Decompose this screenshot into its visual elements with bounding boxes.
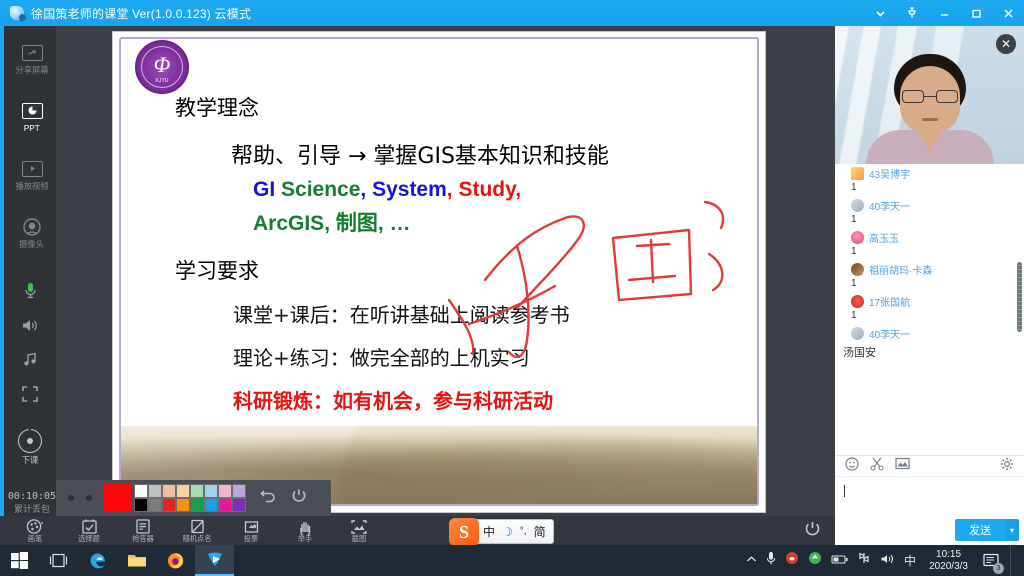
notification-count: 3 [993, 563, 1004, 574]
ime-mode[interactable]: 中 [483, 523, 495, 540]
send-button[interactable]: 发送 [955, 519, 1005, 541]
network-tray-icon[interactable] [857, 552, 871, 570]
ime-punctuation[interactable]: °, [520, 526, 527, 537]
university-logo-tag: XJTU [155, 78, 169, 84]
palette-swatch-top-7[interactable] [232, 484, 246, 498]
minimize-icon[interactable] [928, 0, 960, 26]
chat-message-header: 祖丽胡玛·卡森 [843, 262, 1016, 277]
slide-heading-2: 学习要求 [175, 255, 747, 285]
palette-actions [260, 488, 307, 509]
update-tray-icon[interactable] [808, 551, 822, 570]
pin-icon[interactable] [896, 0, 928, 26]
camera-icon [21, 218, 43, 236]
tool-roll-call-label: 随机点名 [183, 535, 212, 542]
window-title: 徐国策老师的课堂 Ver(1.0.0.123) 云模式 [31, 5, 251, 22]
ime-toolbar[interactable]: S 中 ☽ °, 简 [452, 519, 554, 544]
classroom-app-icon[interactable] [195, 545, 234, 576]
avatar [851, 295, 864, 308]
chat-message: 40李天一1 [835, 196, 1024, 228]
chat-nickname[interactable]: 43吴博宇 [869, 166, 910, 181]
clear-power-icon[interactable] [291, 488, 307, 509]
palette-swatch-top-5[interactable] [204, 484, 218, 498]
chat-nickname[interactable]: 祖丽胡玛·卡森 [869, 262, 932, 277]
slide[interactable]: Φ XJTU 教学理念 帮助、引导 → 掌握GIS基本知识和技能 GI Scie… [113, 32, 765, 512]
sidebar-label-play-video: 播放视频 [15, 181, 48, 190]
slide-heading-1: 教学理念 [175, 92, 747, 122]
windows-taskbar: 中 10:15 2020/3/3 3 [0, 545, 1024, 576]
chat-nickname[interactable]: 17张国航 [869, 294, 910, 309]
slide-text-run-5: Study [458, 178, 515, 201]
ime-moon-icon[interactable]: ☽ [502, 525, 513, 539]
notification-center-icon[interactable]: 3 [981, 551, 1001, 571]
chat-message-body: 1 [843, 309, 1016, 324]
person-mouth [922, 118, 938, 121]
emoji-icon[interactable] [845, 457, 859, 476]
class-timer: 00:10:05 [4, 491, 60, 503]
chat-message-body: 1 [843, 181, 1016, 196]
palette-current-color[interactable] [104, 484, 132, 512]
chat-input-area[interactable]: 发送 ▾ [835, 477, 1024, 545]
share-screen-icon [21, 44, 43, 62]
chat-nickname[interactable]: 40李天一 [869, 198, 910, 213]
chat-nickname[interactable]: 40李天一 [869, 326, 910, 341]
chat-scrollbar[interactable] [1017, 262, 1022, 332]
chat-message-body: 1 [843, 277, 1016, 292]
pen-size-medium[interactable] [86, 495, 92, 501]
tool-brush-label: 画笔 [28, 535, 42, 542]
sidebar-item-share-screen[interactable]: 分享屏幕 [4, 30, 60, 88]
chat-message: 高玉玉1 [835, 228, 1024, 260]
send-options-chevron-icon[interactable]: ▾ [1005, 519, 1019, 541]
slide-line-3: ArcGIS, 制图, … [253, 207, 747, 237]
avatar [851, 263, 864, 276]
title-bar: 徐国策老师的课堂 Ver(1.0.0.123) 云模式 [0, 0, 1024, 26]
tray-ime-mode[interactable]: 中 [904, 552, 916, 569]
slide-line-2: GI Science, System, Study, [253, 178, 747, 202]
fullscreen-icon[interactable] [22, 386, 38, 407]
slide-bullet-3: 科研锻炼：如有机会，参与科研活动 [233, 385, 747, 414]
chat-message: 43吴博宇1 [835, 164, 1024, 196]
gear-icon[interactable] [1000, 457, 1014, 476]
play-video-icon [21, 160, 43, 178]
end-class-button[interactable]: 下课 [4, 429, 56, 465]
webcam-person [865, 44, 995, 164]
university-logo-glyph: Φ [154, 54, 171, 76]
tool-screenshot[interactable]: 截图 [332, 516, 386, 545]
pen-size-small[interactable] [68, 495, 74, 501]
glasses-icon [902, 90, 958, 103]
palette-swatch-bottom-6[interactable] [218, 498, 232, 512]
tool-roll-call[interactable]: 随机点名 [170, 516, 224, 545]
tool-screenshot-label: 截图 [352, 535, 366, 542]
windows-start-icon[interactable] [0, 545, 39, 576]
send-group: 发送 ▾ [955, 519, 1019, 541]
sidebar-item-play-video[interactable]: 播放视频 [4, 146, 60, 204]
avatar [851, 167, 864, 180]
edge-browser-icon[interactable] [78, 545, 117, 576]
tool-quiz-label: 选择题 [78, 535, 100, 542]
microphone-tray-icon[interactable] [766, 551, 776, 571]
security-tray-icon[interactable] [785, 551, 799, 570]
speaker-icon[interactable] [21, 318, 39, 338]
chat-message-header: 高玉玉 [843, 230, 1016, 245]
tool-quiz[interactable]: 选择题 [62, 516, 116, 545]
tool-brush[interactable]: 画笔 [8, 516, 62, 545]
palette-swatch-top-0[interactable] [134, 484, 148, 498]
clock-time: 10:15 [929, 549, 968, 561]
chat-message: 40李天一 [835, 324, 1024, 341]
scissors-icon[interactable] [870, 457, 884, 476]
slide-bullet-1: 课堂+课后：在听讲基础上阅读参考书 [233, 299, 747, 328]
undo-icon[interactable] [260, 489, 277, 508]
ime-simplified[interactable]: 简 [534, 523, 546, 540]
university-logo-icon: Φ XJTU [135, 40, 189, 94]
palette-swatch-top-2[interactable] [162, 484, 176, 498]
sidebar-toggles [4, 282, 56, 407]
image-icon[interactable] [895, 457, 910, 475]
drawing-palette[interactable] [56, 480, 331, 516]
end-class-icon [18, 429, 42, 453]
app-logo-icon [10, 6, 24, 20]
slide-text-run-0: GI [253, 178, 281, 201]
taskbar-clock[interactable]: 10:15 2020/3/3 [925, 549, 972, 573]
close-icon[interactable] [992, 0, 1024, 26]
sidebar-item-ppt[interactable]: PPT [4, 88, 60, 146]
system-tray: 中 10:15 2020/3/3 3 [746, 545, 1024, 576]
firefox-browser-icon[interactable] [156, 545, 195, 576]
chat-message: 祖丽胡玛·卡森1 [835, 260, 1024, 292]
palette-swatches[interactable] [134, 484, 246, 512]
chat-message-header: 40李天一 [843, 326, 1016, 341]
text-caret [844, 485, 845, 497]
tool-vote-label: 投票 [244, 535, 258, 542]
palette-swatch-bottom-7[interactable] [232, 498, 246, 512]
palette-swatch-top-1[interactable] [148, 484, 162, 498]
slide-text-run-6: , [515, 178, 521, 201]
chat-toolbar [835, 455, 1024, 477]
window-controls [864, 0, 1024, 26]
palette-swatch-top-3[interactable] [176, 484, 190, 498]
file-explorer-icon[interactable] [117, 545, 156, 576]
packet-loss-label: 累计丢包 [4, 503, 60, 515]
chat-message-list[interactable]: 43吴博宇140李天一1高玉玉1祖丽胡玛·卡森117张国航140李天一汤国安 [835, 164, 1024, 439]
chat-message-header: 17张国航 [843, 294, 1016, 309]
slide-content: 教学理念 帮助、引导 → 掌握GIS基本知识和技能 GI Science, Sy… [175, 92, 747, 414]
end-class-label: 下课 [22, 455, 39, 464]
task-view-icon[interactable] [39, 545, 78, 576]
volume-tray-icon[interactable] [880, 552, 895, 570]
slide-text-run-2: , [360, 178, 372, 201]
chat-message: 17张国航1 [835, 292, 1024, 324]
presentation-stage: Φ XJTU 教学理念 帮助、引导 → 掌握GIS基本知识和技能 GI Scie… [56, 26, 835, 517]
avatar [851, 231, 864, 244]
palette-swatch-bottom-4[interactable] [190, 498, 204, 512]
battery-tray-icon[interactable] [831, 552, 848, 570]
slide-line-1: 帮助、引导 → 掌握GIS基本知识和技能 [231, 138, 747, 170]
sidebar-item-camera[interactable]: 摄像头 [4, 204, 60, 262]
chat-message-header: 40李天一 [843, 198, 1016, 213]
palette-swatch-bottom-0[interactable] [134, 498, 148, 512]
palette-swatch-top-4[interactable] [190, 484, 204, 498]
person-shirt [866, 130, 994, 164]
palette-swatch-bottom-1[interactable] [148, 498, 162, 512]
clock-date: 2020/3/3 [929, 561, 968, 573]
ppt-icon [21, 102, 43, 120]
maximize-icon[interactable] [960, 0, 992, 26]
palette-swatch-bottom-2[interactable] [162, 498, 176, 512]
chevron-down-icon[interactable] [864, 0, 896, 26]
tool-raise-hand[interactable]: 举手 [278, 516, 332, 545]
class-tools-toolbar: 画笔 选择题 抢答器 随机点名 投票 举手 截图 [0, 516, 835, 545]
left-sidebar: 分享屏幕 PPT 播放视频 摄像头 [0, 26, 56, 545]
app-root: 徐国策老师的课堂 Ver(1.0.0.123) 云模式 [0, 0, 1024, 576]
chat-message-body: 1 [843, 245, 1016, 260]
webcam-close-icon[interactable]: ✕ [996, 34, 1016, 54]
right-panel: ✕ 43吴博宇140李天一1高玉玉1祖丽胡玛·卡森117张国航140李天一汤国安… [835, 26, 1024, 545]
palette-swatch-bottom-3[interactable] [176, 498, 190, 512]
music-icon[interactable] [23, 352, 38, 372]
slide-text-run-3: System [372, 178, 447, 201]
chat-sender-name: 汤国安 [835, 341, 1024, 360]
palette-size-dots[interactable] [56, 495, 104, 501]
chat-message-header: 43吴博宇 [843, 166, 1016, 181]
sidebar-label-camera: 摄像头 [20, 239, 45, 248]
power-icon[interactable] [804, 520, 821, 542]
sidebar-label-share-screen: 分享屏幕 [15, 65, 48, 74]
microphone-icon[interactable] [23, 282, 38, 304]
chat-nickname[interactable]: 高玉玉 [869, 230, 899, 245]
tool-raise-hand-label: 举手 [298, 535, 312, 542]
avatar [851, 327, 864, 340]
palette-swatch-top-6[interactable] [218, 484, 232, 498]
slide-text-run-1: Science [281, 178, 360, 201]
show-desktop-button[interactable] [1010, 545, 1016, 576]
teacher-webcam[interactable]: ✕ [835, 26, 1024, 164]
sogou-logo-icon: S [449, 518, 479, 546]
tool-vote[interactable]: 投票 [224, 516, 278, 545]
slide-bullet-2: 理论+练习：做完全部的上机实习 [233, 342, 747, 371]
slide-text-run-0: ArcGIS, 制图, … [253, 212, 411, 235]
tool-answer[interactable]: 抢答器 [116, 516, 170, 545]
slide-text-run-4: , [447, 178, 459, 201]
sidebar-label-ppt: PPT [24, 123, 40, 132]
chat-message-body: 1 [843, 213, 1016, 228]
palette-swatch-bottom-5[interactable] [204, 498, 218, 512]
avatar [851, 199, 864, 212]
tray-chevron-up-icon[interactable] [746, 555, 757, 567]
tool-answer-label: 抢答器 [132, 535, 154, 542]
